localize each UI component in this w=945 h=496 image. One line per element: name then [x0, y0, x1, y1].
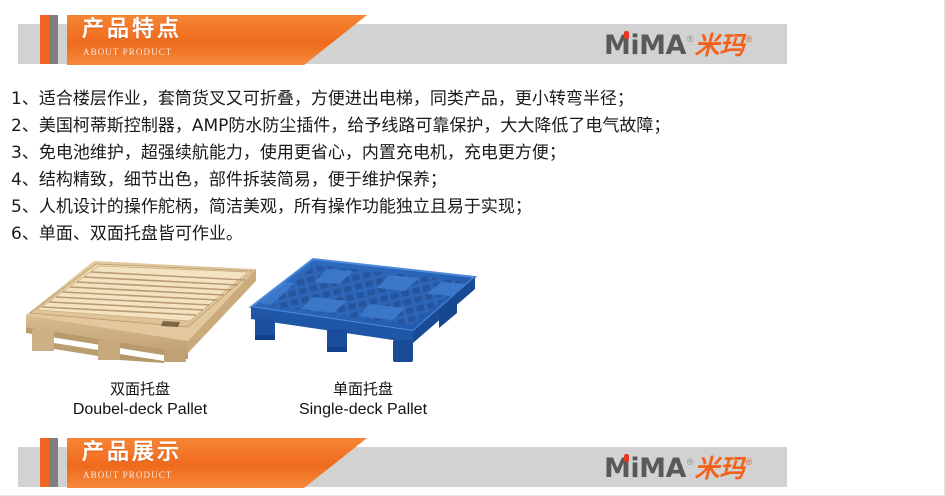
section-banner-features: 产品特点 ABOUT PRODUCT MiMA ® 米玛 ®: [0, 10, 945, 72]
product-card-double-deck: 双面托盘 Doubel-deck Pallet: [20, 255, 260, 420]
brand-logo-chinese: 米玛: [695, 455, 745, 483]
brand-logo-latin: MiMA: [604, 32, 686, 60]
brand-logo: MiMA ® 米玛 ®: [604, 32, 752, 60]
banner-gray-stripe: [49, 15, 58, 64]
feature-item: 4、结构精致，细节出色，部件拆装简易，便于维护保养；: [11, 167, 936, 194]
brand-logo-chinese: 米玛: [695, 32, 745, 60]
feature-list: 1、适合楼层作业，套筒货叉又可折叠，方便进出电梯，同类产品，更小转弯半径； 2、…: [11, 86, 936, 248]
banner-gray-stripe: [49, 438, 58, 487]
product-caption-en: Single-deck Pallet: [243, 399, 483, 420]
feature-item: 1、适合楼层作业，套筒货叉又可折叠，方便进出电梯，同类产品，更小转弯半径；: [11, 86, 936, 113]
wooden-pallet-illustration: [20, 255, 260, 363]
product-caption-cn: 双面托盘: [20, 379, 260, 399]
registered-mark-icon-2: ®: [746, 455, 753, 467]
banner-title: 产品展示: [82, 440, 182, 466]
registered-mark-icon-2: ®: [746, 32, 753, 44]
product-feature-page: 产品特点 ABOUT PRODUCT MiMA ® 米玛 ® 1、适合楼层作业，…: [0, 0, 945, 496]
banner-subtitle: ABOUT PRODUCT: [83, 470, 172, 480]
blue-plastic-pallet-photo: [243, 255, 483, 365]
brand-logo-latin: MiMA: [604, 455, 686, 483]
product-gallery: 双面托盘 Doubel-deck Pallet: [0, 255, 945, 435]
brand-logo: MiMA ® 米玛 ®: [604, 455, 752, 483]
product-caption-en: Doubel-deck Pallet: [20, 399, 260, 420]
wooden-pallet-photo: [20, 255, 260, 365]
red-dot-icon: [624, 454, 629, 462]
registered-mark-icon: ®: [687, 32, 694, 44]
banner-orange-stripe: [40, 438, 49, 487]
feature-item: 2、美国柯蒂斯控制器，AMP防水防尘插件，给予线路可靠保护，大大降低了电气故障；: [11, 113, 936, 140]
banner-orange-stripe: [40, 15, 49, 64]
product-card-single-deck: 单面托盘 Single-deck Pallet: [243, 255, 483, 420]
banner-subtitle: ABOUT PRODUCT: [83, 47, 172, 57]
red-dot-icon: [624, 31, 629, 39]
product-caption-cn: 单面托盘: [243, 379, 483, 399]
plastic-pallet-illustration: [243, 255, 483, 363]
feature-item: 5、人机设计的操作舵柄，简洁美观，所有操作功能独立且易于实现；: [11, 194, 936, 221]
registered-mark-icon: ®: [687, 455, 694, 467]
feature-item: 6、单面、双面托盘皆可作业。: [11, 221, 936, 248]
feature-item: 3、免电池维护，超强续航能力，使用更省心，内置充电机，充电更方便；: [11, 140, 936, 167]
banner-title: 产品特点: [82, 17, 182, 43]
section-banner-showcase: 产品展示 ABOUT PRODUCT MiMA ® 米玛 ®: [0, 433, 945, 495]
